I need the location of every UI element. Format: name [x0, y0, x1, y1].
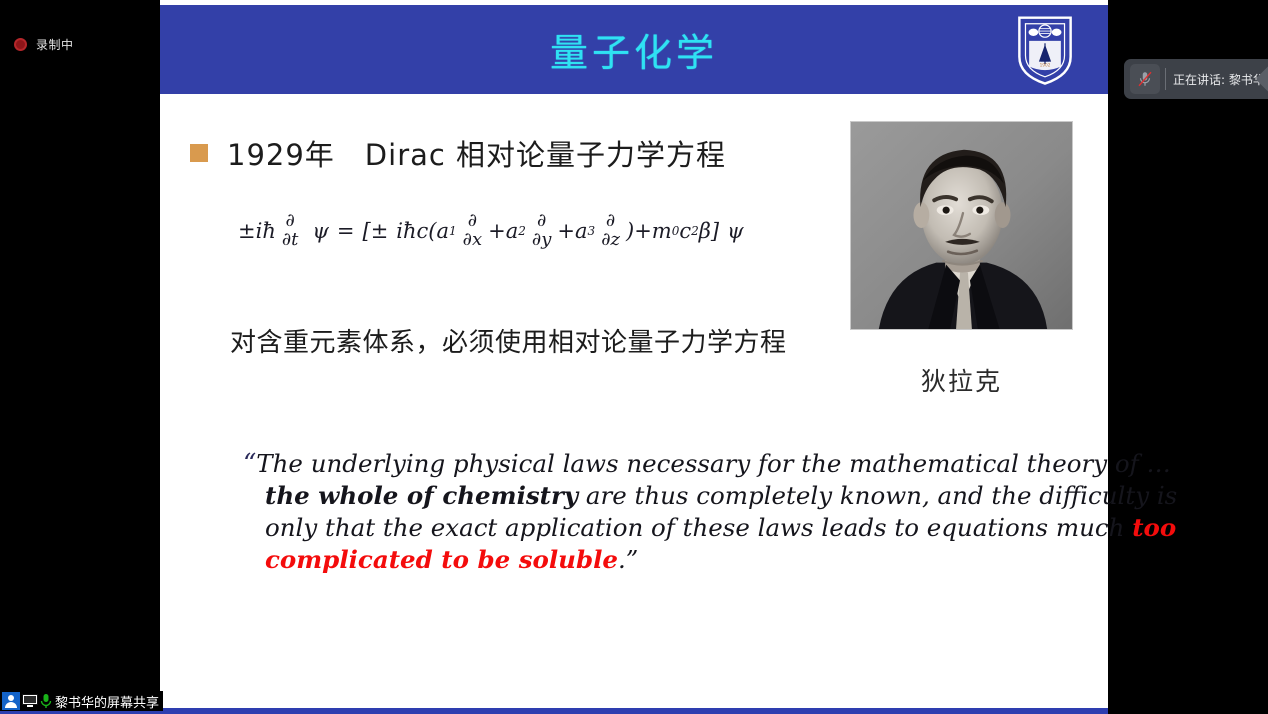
slide-note-text: 对含重元素体系，必须使用相对论量子力学方程: [230, 322, 787, 359]
quote-line-3: only that the exact application of these…: [243, 512, 1063, 544]
formula-rhs-psi: ψ: [727, 219, 743, 243]
formula-close-paren: ): [626, 219, 634, 243]
pill-divider: [1165, 68, 1166, 90]
taskbar-underline: [0, 708, 1108, 714]
formula-beta: β: [699, 219, 711, 243]
dirac-quote-block: “The underlying physical laws necessary …: [243, 448, 1063, 576]
formula-plus-1: +: [488, 219, 506, 243]
slide-banner: 量子化学 1902: [160, 5, 1108, 94]
portrait-image: [851, 122, 1072, 329]
formula-open-bracket: [: [362, 219, 370, 243]
quote-close-mark: .”: [618, 545, 638, 574]
nanjing-university-shield-icon: 1902: [1014, 14, 1076, 86]
formula-lhs-psi: ψ: [312, 219, 328, 243]
record-dot-icon: [14, 38, 27, 51]
formula-dz-den: ∂z: [598, 231, 623, 250]
quote-open-mark: “: [243, 449, 256, 479]
formula-rhs-ihbarc: iħc(: [396, 219, 436, 243]
formula-lhs-fraction: ∂ ∂t: [279, 212, 302, 250]
slide-bullet-item: 1929年 Dirac 相对论量子力学方程: [190, 132, 726, 174]
monitor-glyph: [22, 694, 38, 708]
screen-share-viewer: 录制中 正在讲话: 黎书华; 量子化学: [0, 0, 1268, 714]
formula-m-sub: 0: [672, 224, 680, 238]
dirac-equation-formula: ± iħ ∂ ∂t ψ = [ ± iħc( a1 ∂ ∂x + a2 ∂: [238, 212, 744, 250]
formula-a1-sub: 1: [449, 224, 457, 238]
portrait-caption: 狄拉克: [850, 362, 1073, 398]
quote-line-2-rest: are thus completely known, and the diffi…: [578, 481, 1177, 510]
quote-line-2: the whole of chemistry are thus complete…: [243, 480, 1063, 512]
formula-a3-sub: 3: [588, 224, 596, 238]
formula-rhs-sign: ±: [371, 219, 389, 243]
bullet-text: 1929年 Dirac 相对论量子力学方程: [227, 132, 726, 174]
slide-title: 量子化学: [550, 22, 718, 77]
active-speaker-pill[interactable]: 正在讲话: 黎书华;: [1124, 59, 1268, 99]
formula-a3: a: [575, 219, 588, 243]
recording-indicator: 录制中: [14, 34, 74, 54]
quote-line-2-bold: the whole of chemistry: [265, 481, 578, 510]
quote-line-1: “The underlying physical laws necessary …: [243, 448, 1063, 480]
formula-a1: a: [437, 219, 450, 243]
formula-m: m: [652, 219, 672, 243]
formula-lhs-ihbar: iħ: [256, 219, 276, 243]
formula-dy-fraction: ∂ ∂y: [529, 212, 554, 250]
formula-lhs-sign: ±: [238, 219, 256, 243]
pill-pointer-shape: [1255, 63, 1268, 94]
quote-line-3-text: only that the exact application of these…: [265, 513, 1132, 542]
formula-dx-den: ∂x: [460, 231, 485, 250]
banner-rule: [160, 94, 1108, 97]
formula-plus-2: +: [557, 219, 575, 243]
formula-c: c: [679, 219, 691, 243]
quote-line-3-red: too: [1132, 513, 1176, 542]
formula-a2: a: [506, 219, 519, 243]
person-icon: [2, 692, 20, 710]
recording-label: 录制中: [36, 36, 74, 53]
microphone-icon: [40, 693, 52, 709]
formula-plus-3: +: [634, 219, 652, 243]
formula-dy-den: ∂y: [529, 231, 554, 250]
mic-muted-glyph: [1136, 70, 1154, 88]
taskbar-screenshare-label: 黎书华的屏幕共享: [55, 692, 159, 711]
taskbar-screenshare-item[interactable]: 黎书华的屏幕共享: [0, 691, 163, 711]
formula-close-bracket: ]: [711, 219, 719, 243]
active-speaker-label: 正在讲话: 黎书华;: [1173, 71, 1268, 88]
paul-dirac-portrait-photo: [850, 121, 1073, 330]
formula-a2-sub: 2: [518, 224, 526, 238]
microphone-glyph: [40, 693, 52, 709]
formula-equals: =: [337, 219, 355, 243]
mic-muted-icon[interactable]: [1130, 64, 1160, 94]
quote-line-4-red: complicated to be soluble: [265, 545, 618, 574]
formula-lhs-den: ∂t: [279, 231, 302, 250]
quote-line-4: complicated to be soluble.”: [243, 544, 1063, 576]
quote-line-1-text: The underlying physical laws necessary f…: [256, 449, 1171, 478]
monitor-icon: [22, 694, 38, 708]
bullet-square-icon: [190, 144, 208, 162]
formula-dx-fraction: ∂ ∂x: [460, 212, 485, 250]
formula-dz-fraction: ∂ ∂z: [598, 212, 623, 250]
shared-slide: 量子化学 1902 1929年 Dirac 相对论量子力学方程: [160, 0, 1108, 708]
formula-c-sup: 2: [691, 224, 699, 238]
svg-text:1902: 1902: [1040, 62, 1051, 68]
